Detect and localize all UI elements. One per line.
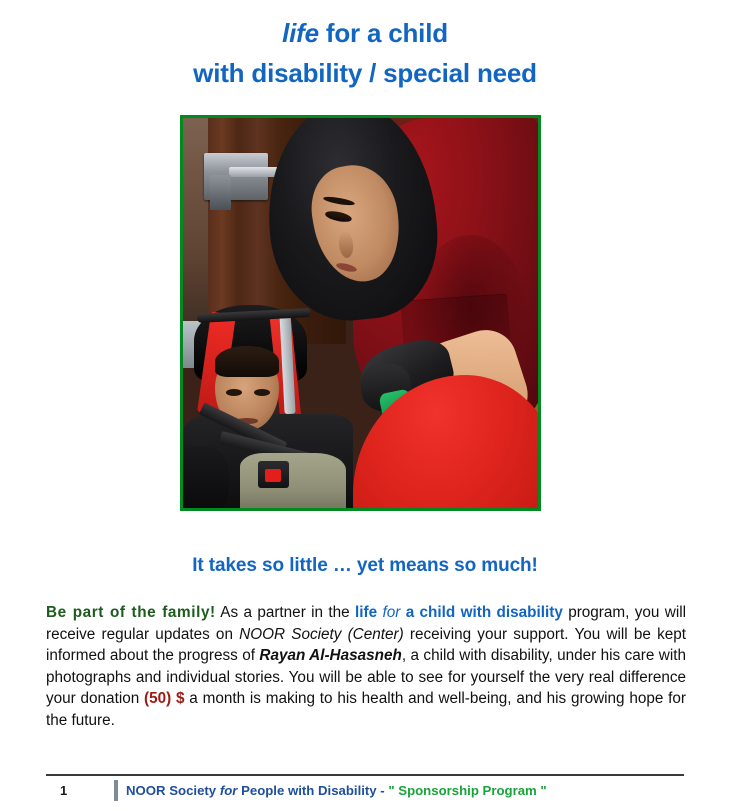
organisation-name: NOOR Society (Center): [239, 626, 404, 643]
title-line-1-rest: for a child: [319, 18, 448, 48]
photo-door-handle: [229, 167, 279, 177]
child-name: Rayan Al-Hasasneh: [259, 647, 401, 664]
program-name-for: for: [377, 604, 406, 621]
program-name-life: life: [355, 604, 377, 621]
tagline: It takes so little … yet means so much!: [0, 555, 730, 577]
page-number: 1: [60, 783, 67, 798]
donation-amount: (50) $: [144, 690, 185, 707]
footer-org-1: NOOR Society: [126, 783, 220, 798]
photo-frame: [180, 115, 541, 511]
title-line-2: with disability / special need: [0, 56, 730, 90]
program-name-rest: a child with disability: [406, 604, 563, 621]
photo-buckle-release: [265, 469, 281, 482]
page-footer: 1 NOOR Society for People with Disabilit…: [46, 780, 684, 804]
footer-org-2: People with Disability -: [237, 783, 388, 798]
photo-child-hair: [215, 346, 279, 377]
footer-accent-bar: [114, 780, 118, 801]
photo-wall: [183, 118, 208, 344]
footer-text: NOOR Society for People with Disability …: [126, 783, 547, 798]
body-lead-in: Be part of the family!: [46, 604, 216, 621]
title-word-life: life: [282, 18, 319, 48]
page-title: life for a child with disability / speci…: [0, 16, 730, 90]
photo-wheelchair-wheel: [183, 446, 229, 508]
body-segment-1: As a partner in the: [216, 604, 355, 621]
photo-child-pants: [240, 453, 347, 508]
photo-child-eye-right: [254, 389, 270, 396]
title-line-1: life for a child: [0, 16, 730, 50]
footer-org-for: for: [220, 783, 238, 798]
document-page: life for a child with disability / speci…: [0, 0, 730, 811]
photograph: [183, 118, 538, 508]
photo-child-eye-left: [226, 389, 242, 396]
footer-program-name: " Sponsorship Program ": [388, 783, 546, 798]
body-paragraph: Be part of the family! As a partner in t…: [46, 602, 686, 732]
photo-door-lock: [210, 175, 231, 210]
footer-divider: [46, 774, 684, 776]
